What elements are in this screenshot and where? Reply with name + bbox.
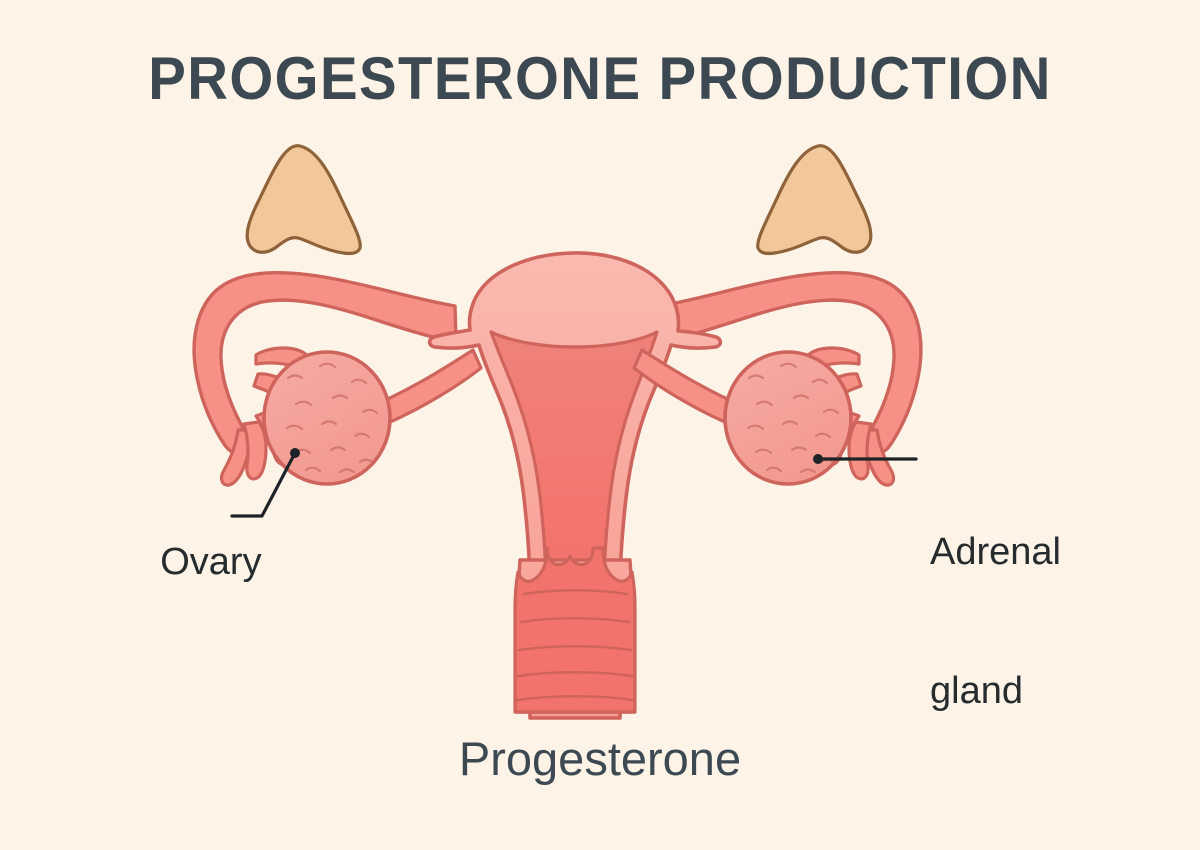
ovary-right — [725, 352, 851, 484]
adrenal-gland-right — [758, 146, 871, 254]
adrenal-label-line-2: gland — [930, 668, 1061, 714]
annotation-label-ovary: Ovary — [118, 493, 262, 632]
ovary-left — [264, 352, 390, 484]
figure-caption: Progesterone — [0, 731, 1200, 786]
ovary-label-text: Ovary — [160, 541, 261, 583]
progesterone-production-poster: PROGESTERONE PRODUCTION — [0, 0, 1200, 850]
adrenal-label-line-1: Adrenal — [930, 529, 1061, 575]
adrenal-gland-left — [247, 146, 360, 254]
